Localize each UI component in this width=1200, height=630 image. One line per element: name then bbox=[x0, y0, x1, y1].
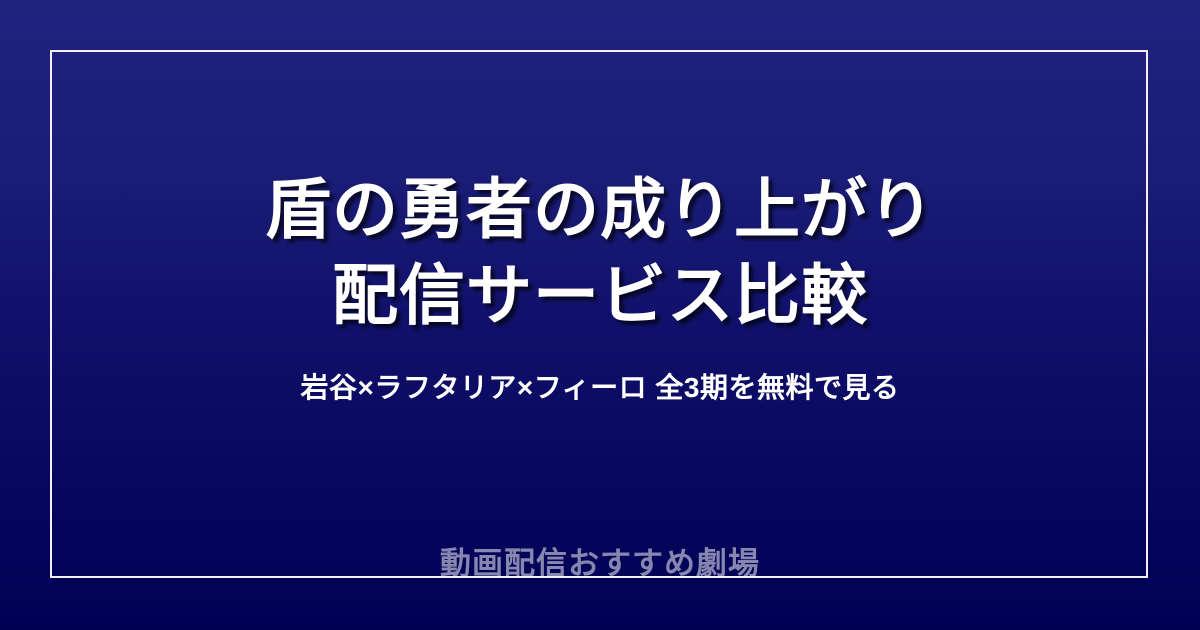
page-subtitle: 岩谷×ラフタリア×フィーロ 全3期を無料で見る bbox=[301, 371, 900, 405]
banner-content: 盾の勇者の成り上がり 配信サービス比較 岩谷×ラフタリア×フィーロ 全3期を無料… bbox=[52, 52, 1148, 576]
page-title-line-1: 盾の勇者の成り上がり bbox=[265, 167, 935, 253]
page-title-line-2: 配信サービス比較 bbox=[332, 253, 868, 339]
og-banner: 動画配信おすすめ劇場 盾の勇者の成り上がり 配信サービス比較 岩谷×ラフタリア×… bbox=[0, 0, 1200, 630]
